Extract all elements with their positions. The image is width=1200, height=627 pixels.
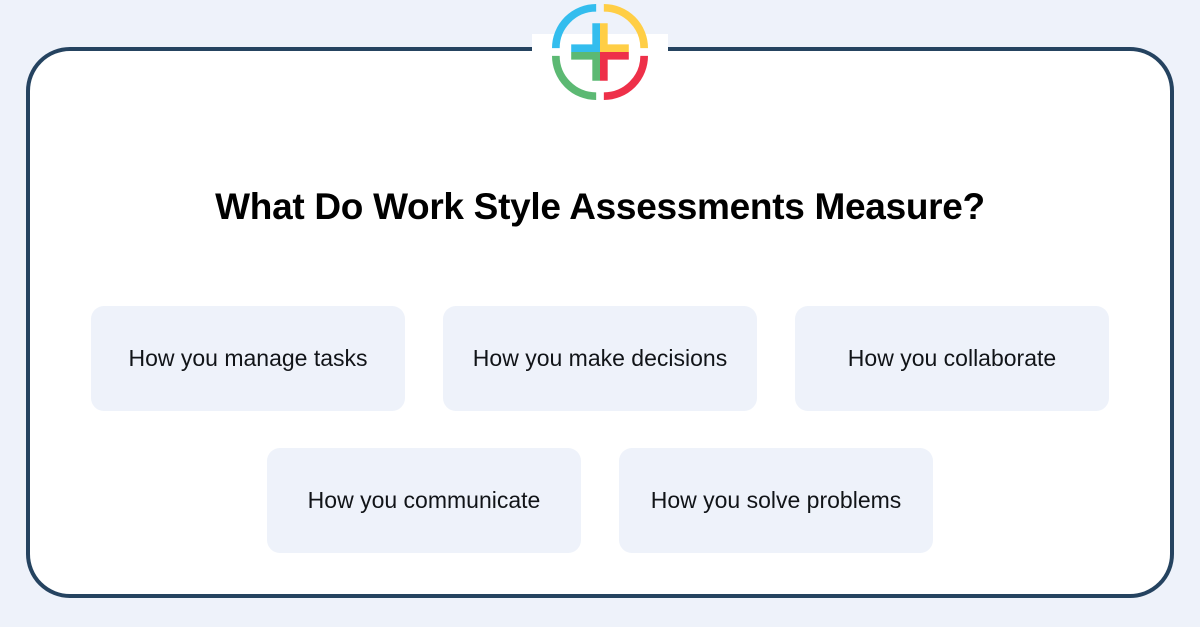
chip-grid: How you manage tasks How you make decisi… <box>30 306 1170 553</box>
four-quadrant-circle-logo-icon <box>552 4 648 100</box>
chip-row-2: How you communicate How you solve proble… <box>30 448 1170 553</box>
chip-communicate[interactable]: How you communicate <box>267 448 581 553</box>
chip-make-decisions[interactable]: How you make decisions <box>443 306 757 411</box>
chip-label: How you collaborate <box>848 342 1056 375</box>
chip-solve-problems[interactable]: How you solve problems <box>619 448 933 553</box>
page-title: What Do Work Style Assessments Measure? <box>30 185 1170 229</box>
content-panel: What Do Work Style Assessments Measure? … <box>26 47 1174 598</box>
chip-manage-tasks[interactable]: How you manage tasks <box>91 306 405 411</box>
chip-label: How you make decisions <box>473 342 727 375</box>
infographic-stage: What Do Work Style Assessments Measure? … <box>0 0 1200 627</box>
chip-collaborate[interactable]: How you collaborate <box>795 306 1109 411</box>
chip-label: How you communicate <box>308 484 541 517</box>
chip-row-1: How you manage tasks How you make decisi… <box>30 306 1170 411</box>
brand-logo <box>532 4 668 100</box>
chip-label: How you manage tasks <box>128 342 367 375</box>
chip-label: How you solve problems <box>651 484 902 517</box>
